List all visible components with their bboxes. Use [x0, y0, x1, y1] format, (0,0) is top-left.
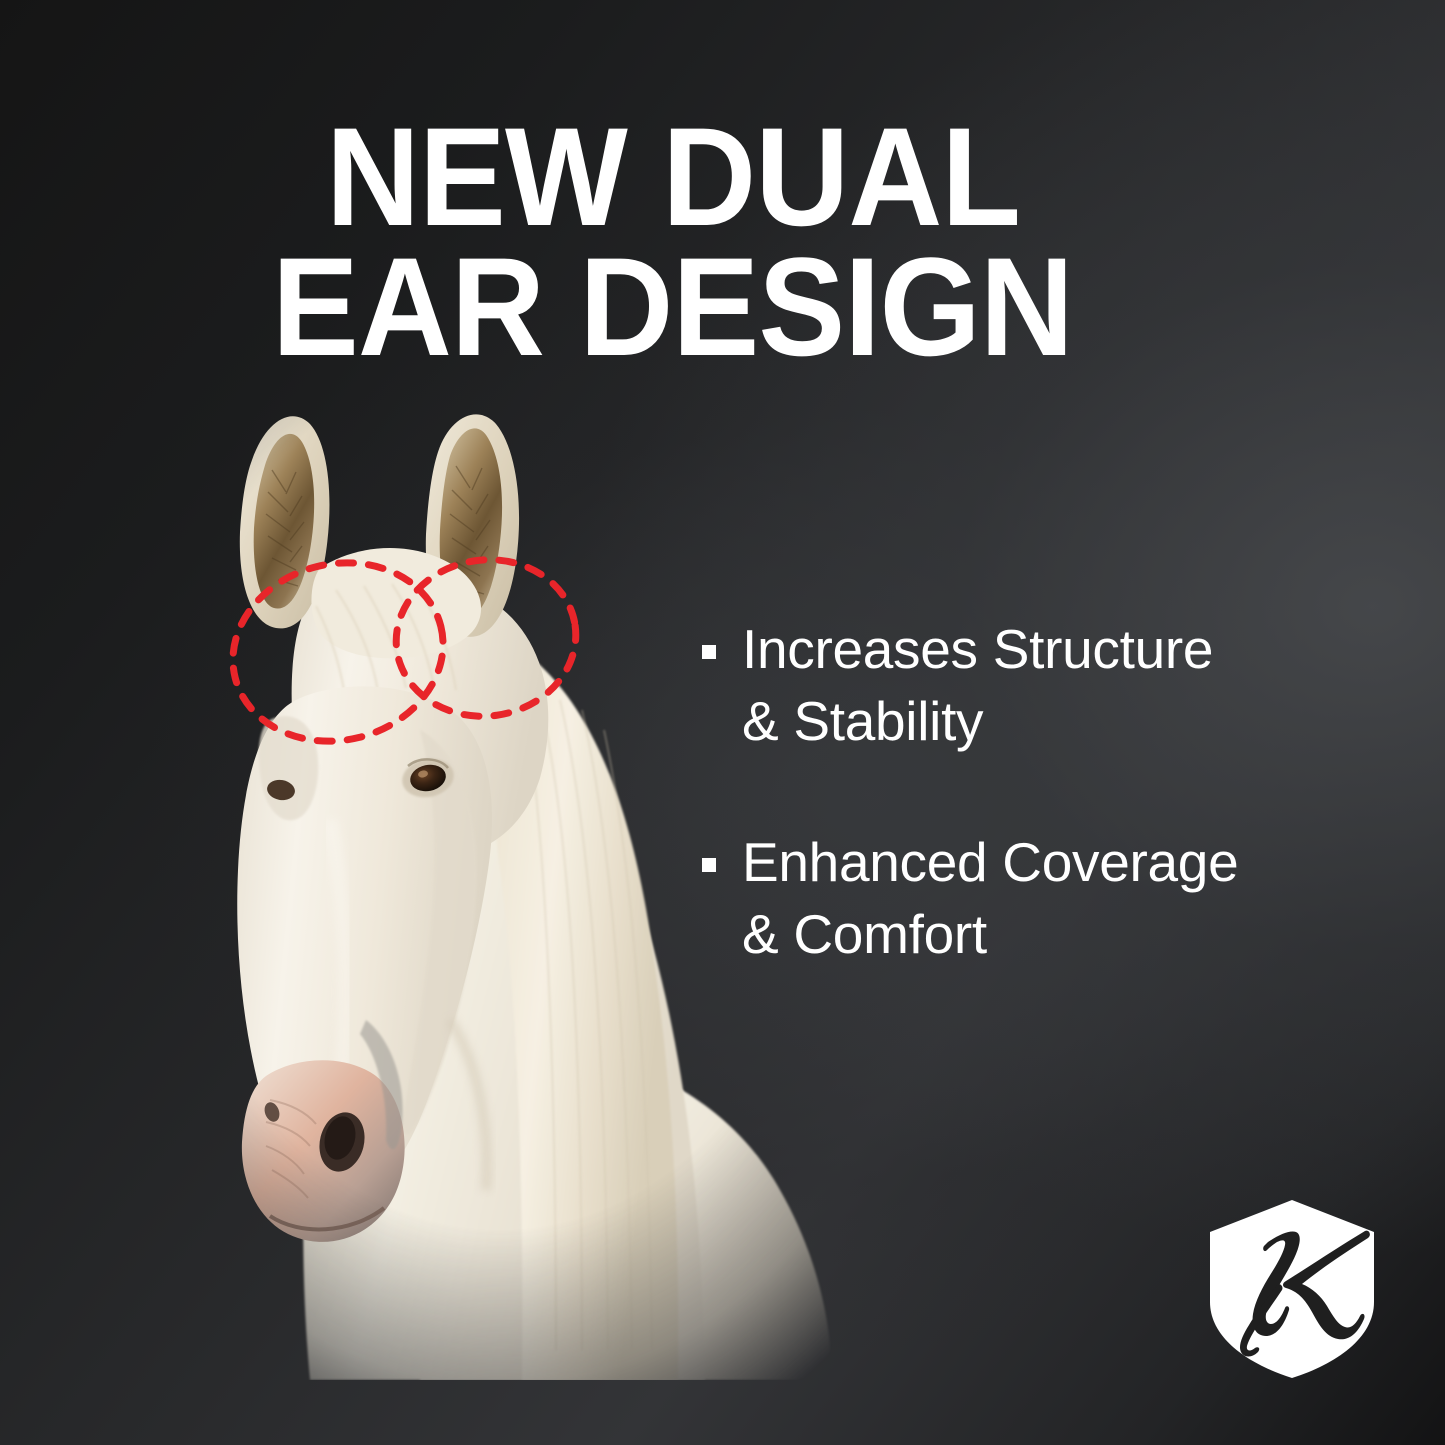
page-title: NEW DUAL EAR DESIGN: [272, 112, 1146, 372]
poster-canvas: NEW DUAL EAR DESIGN Increases Structure …: [0, 0, 1445, 1445]
shield-k-logo: [1206, 1198, 1378, 1380]
headline-line-2: EAR DESIGN: [272, 242, 1146, 372]
bullet-text-line-2: & Stability: [742, 690, 983, 752]
square-bullet-icon: [702, 645, 716, 659]
square-bullet-icon: [702, 858, 716, 872]
feature-list: Increases Structure & Stability Enhanced…: [698, 614, 1378, 970]
bullet-text-line-2: & Comfort: [742, 903, 987, 965]
list-item: Increases Structure & Stability: [698, 614, 1378, 757]
list-item: Enhanced Coverage & Comfort: [698, 827, 1378, 970]
bullet-text-line-1: Enhanced Coverage: [742, 831, 1238, 893]
headline-line-1: NEW DUAL: [272, 112, 1146, 242]
bullet-text-line-1: Increases Structure: [742, 618, 1213, 680]
